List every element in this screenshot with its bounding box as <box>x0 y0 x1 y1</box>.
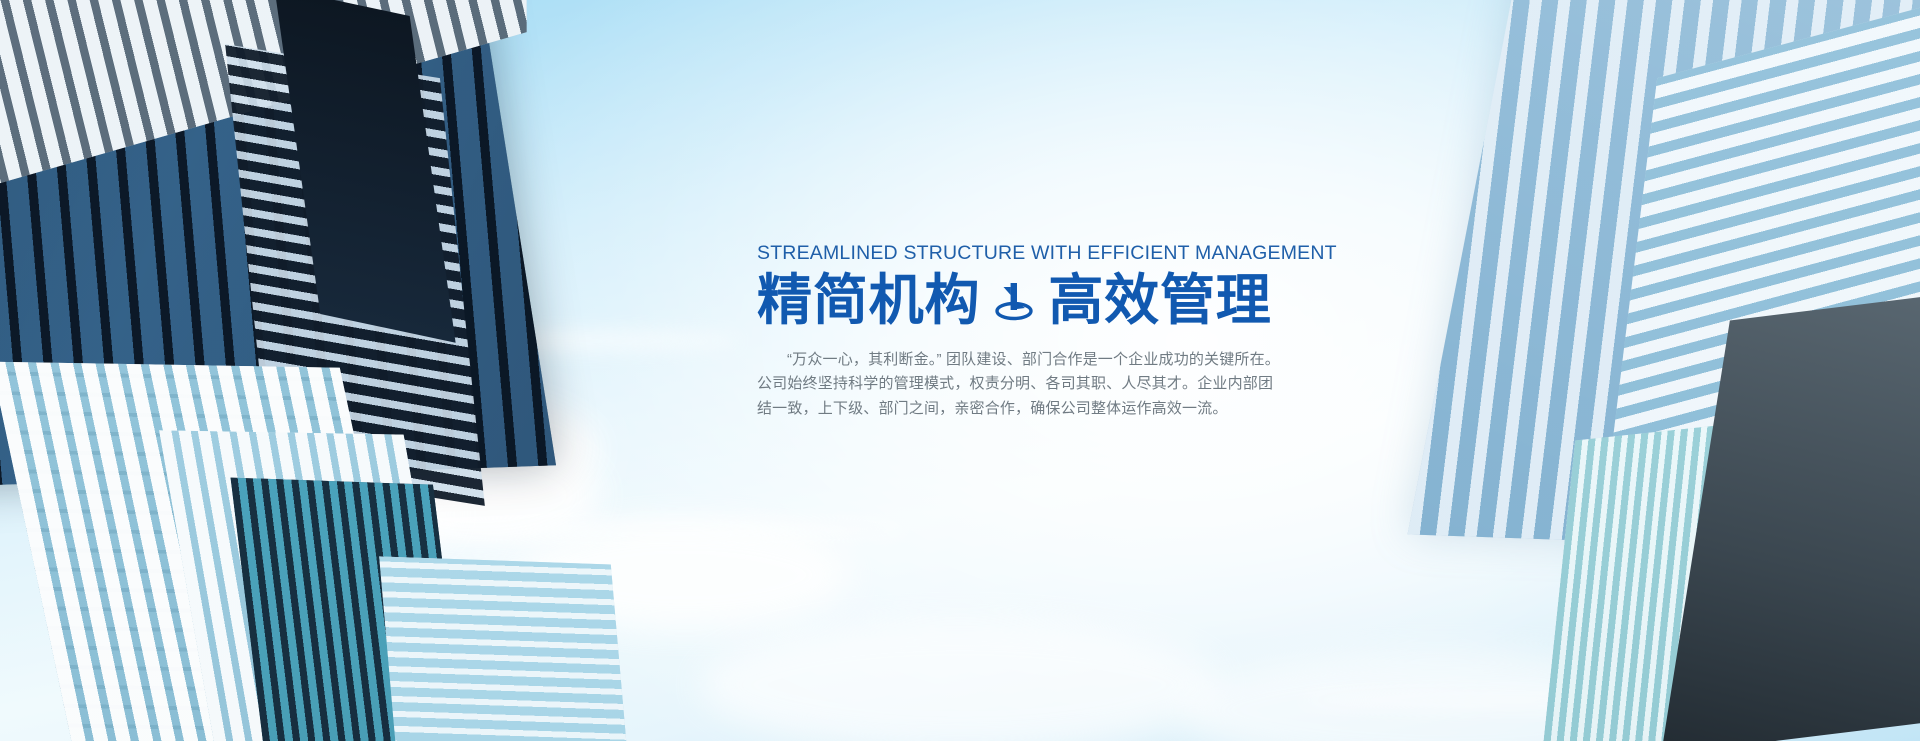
cloud-wisp <box>430 520 910 538</box>
body-line: 公司始终坚持科学的管理模式，权责分明、各司其职、人尽其才。企业内部团 <box>757 372 1317 396</box>
hero-copy-block: STREAMLINED STRUCTURE WITH EFFICIENT MAN… <box>757 243 1317 421</box>
hero-body-copy: “万众一心，其利断金。” 团队建设、部门合作是一个企业成功的关键所在。 公司始终… <box>757 348 1317 421</box>
headline-phrase-right: 高效管理 <box>1048 270 1271 332</box>
headline-phrase-left: 精简机构 <box>757 270 980 332</box>
hero-eyebrow: STREAMLINED STRUCTURE WITH EFFICIENT MAN… <box>757 243 1317 264</box>
cloud <box>700 620 1220 741</box>
hero-banner: STREAMLINED STRUCTURE WITH EFFICIENT MAN… <box>0 0 1920 741</box>
company-mark-icon <box>986 273 1042 329</box>
distant-tower <box>379 556 631 741</box>
body-line: 结一致，上下级、部门之间，亲密合作，确保公司整体运作高效一流。 <box>757 397 1317 421</box>
hero-headline: 精简机构 高效管理 <box>757 270 1317 332</box>
body-line: “万众一心，其利断金。” 团队建设、部门合作是一个企业成功的关键所在。 <box>757 348 1317 372</box>
